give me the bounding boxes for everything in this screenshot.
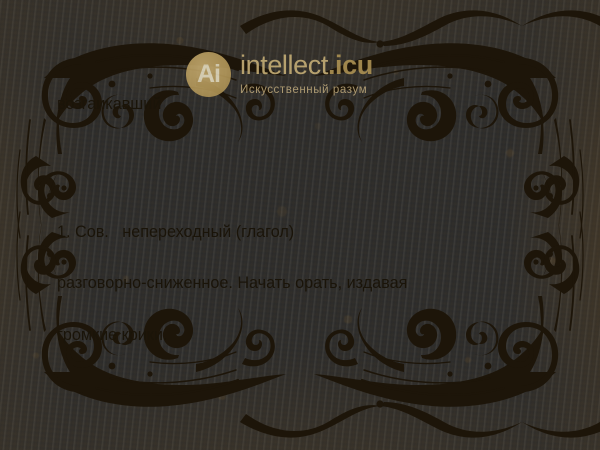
sense-1-line-1: 1. Сов. непереходный (глагол): [57, 224, 545, 240]
sense-1-line-2: разговорно-сниженное. Начать орать, изда…: [57, 275, 545, 291]
dictionary-article: возгаикавший 1. Сов. непереходный (глаго…: [57, 64, 545, 450]
parchment-page: Ai intellect.icu Искусственный разум воз…: [0, 0, 600, 450]
sense-entry-1: 1. Сов. непереходный (глагол) разговорно…: [57, 191, 545, 378]
top-edge-scallops: [240, 10, 600, 47]
headword: возгаикавший: [57, 96, 545, 112]
sense-1-line-3: громкие крики.: [57, 327, 545, 343]
sense-entry-2: 1. Заору, заорёшь, совершенный вид ( раз…: [57, 427, 545, 450]
